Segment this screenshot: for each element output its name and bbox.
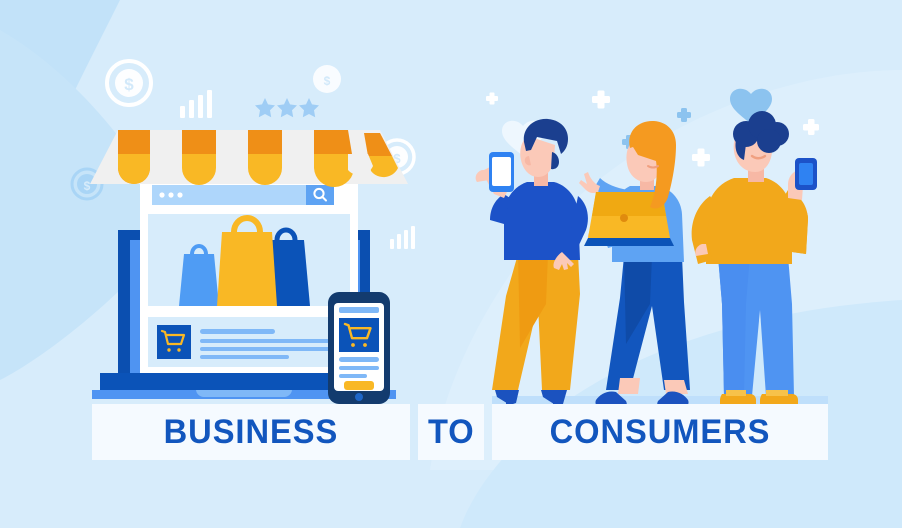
svg-text:$: $ [84,179,91,193]
p3-smartphone [795,158,817,190]
store-awning [90,130,408,187]
coin-icon-small-white: $ [313,65,341,93]
svg-text:$: $ [124,75,134,94]
banner-to: TO [418,404,484,460]
banner-business-label: BUSINESS [164,415,339,449]
smartphone-mockup [328,292,390,404]
banner-consumers: CONSUMERS [492,404,828,460]
browser-dots-icon [159,192,182,197]
banner-business: BUSINESS [92,404,410,460]
p2-leg-skin-right [618,378,640,394]
p1-smartphone [489,152,514,192]
illustration-canvas: $ $ $ $ [0,0,902,528]
banner-consumers-label: CONSUMERS [550,415,771,449]
bag-small-light-blue [179,246,219,306]
phone-status-bar [339,307,379,313]
p3-shoe-right-top [726,390,746,396]
phone-cta-button [344,381,374,390]
svg-text:$: $ [324,74,331,88]
p3-shoe-left-top [766,390,788,396]
phone-home-button [355,393,363,401]
banner-to-label: TO [428,415,475,449]
p3-torso [706,178,792,264]
laptop-trackpad-notch [196,390,292,397]
